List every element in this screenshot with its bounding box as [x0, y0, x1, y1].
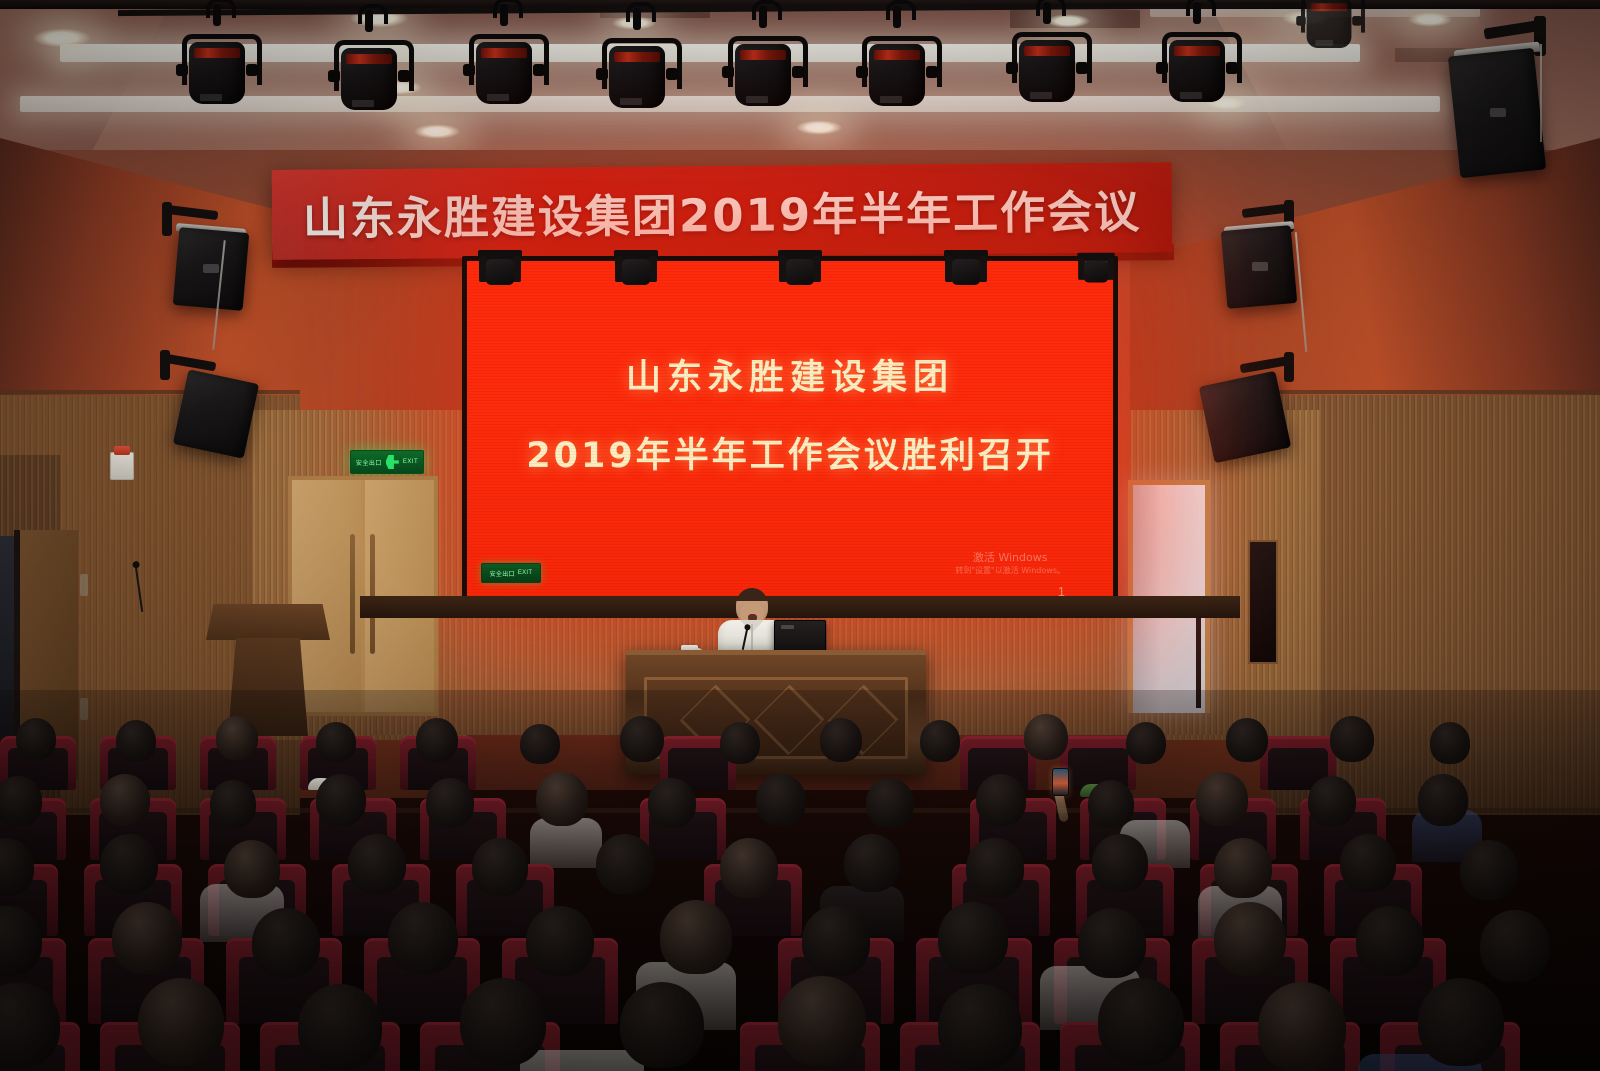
- downlight: [33, 28, 91, 48]
- banner-text: 山东永胜建设集团2019年半年工作会议: [303, 175, 1142, 247]
- par-can-light: [1158, 16, 1236, 108]
- attendee-head: [1024, 714, 1068, 760]
- emergency-exit-sign: 安全出口 EXIT: [350, 450, 424, 474]
- attendee-head: [1418, 978, 1504, 1066]
- attendee-head: [112, 902, 182, 974]
- attendee-head: [316, 722, 356, 762]
- attendee-head: [526, 906, 594, 976]
- attendee-head: [720, 838, 778, 898]
- attendee-head: [1092, 834, 1148, 892]
- attendee-head: [844, 834, 900, 892]
- wall-niche-right: [1248, 540, 1278, 664]
- downlight: [796, 120, 842, 135]
- moving-head-light: [944, 250, 988, 286]
- attendee-head: [1214, 902, 1286, 976]
- par-can-light: [858, 20, 936, 112]
- attendee-head: [620, 716, 664, 762]
- attendee-head: [224, 840, 280, 898]
- watermark-subtitle: 转到"设置"以激活 Windows。: [955, 566, 1065, 577]
- downlight: [414, 124, 460, 139]
- par-can-light: [1008, 16, 1086, 108]
- attendee-head: [16, 718, 56, 760]
- attendee-head: [660, 900, 732, 974]
- attendee-head: [520, 724, 560, 764]
- fire-alarm-station: [110, 452, 134, 480]
- screen-exit-en: EXIT: [518, 570, 533, 576]
- par-can-light: [1298, 0, 1360, 53]
- attendee-shirt: [520, 1050, 644, 1071]
- attendee-head: [1340, 834, 1396, 892]
- attendee-head: [1098, 978, 1184, 1066]
- attendee-head: [938, 984, 1022, 1070]
- running-man-icon: [386, 455, 399, 469]
- door-handle[interactable]: [370, 534, 375, 654]
- attendee-head: [756, 774, 806, 826]
- conference-banner: 山东永胜建设集团2019年半年工作会议: [272, 162, 1173, 260]
- attendee-head: [966, 838, 1024, 898]
- attendee-head: [778, 976, 866, 1066]
- moving-head-light: [778, 250, 822, 286]
- attendee-head: [1078, 908, 1146, 978]
- downlight: [1408, 12, 1452, 27]
- attendee-head: [298, 984, 382, 1070]
- led-screen: 山东永胜建设集团 2019年半年工作会议胜利召开 安全出口 EXIT 激活 Wi…: [467, 261, 1113, 605]
- attendee-head: [1196, 772, 1248, 826]
- led-screen-frame: 山东永胜建设集团 2019年半年工作会议胜利召开 安全出口 EXIT 激活 Wi…: [462, 256, 1118, 610]
- attendee-head: [388, 902, 458, 974]
- par-can-light: [465, 18, 543, 110]
- attendee-head: [620, 982, 704, 1068]
- par-can-light: [724, 20, 802, 112]
- attendee-head: [1088, 780, 1134, 828]
- attendee-head: [1330, 716, 1374, 762]
- smartphone[interactable]: [1052, 768, 1069, 796]
- moving-head-light: [1077, 253, 1114, 284]
- attendee-head: [1460, 840, 1518, 900]
- screen-headline: 山东永胜建设集团: [467, 349, 1113, 400]
- attendee-head: [138, 978, 224, 1066]
- wall-trim: [1270, 390, 1600, 394]
- par-can-light: [330, 24, 408, 116]
- attendee-head: [416, 718, 458, 762]
- attendee-head: [252, 908, 320, 978]
- attendee-head: [426, 778, 474, 828]
- attendee-head: [866, 778, 914, 828]
- audience: [0, 690, 1600, 1071]
- attendee-head: [1480, 910, 1550, 982]
- attendee-head: [1418, 774, 1468, 826]
- stage-riser: [360, 596, 1240, 618]
- watermark-title: 激活 Windows: [955, 551, 1065, 566]
- attendee-head: [1214, 838, 1272, 898]
- attendee-head: [216, 716, 258, 760]
- attendee-head: [648, 778, 696, 828]
- laptop-logo: [781, 625, 794, 629]
- moving-head-light: [614, 250, 658, 286]
- attendee-head: [802, 906, 870, 976]
- attendee-head: [472, 838, 528, 896]
- exit-sign-en: EXIT: [403, 459, 418, 465]
- screen-exit-sign: 安全出口 EXIT: [481, 563, 541, 583]
- attendee-head: [316, 774, 366, 826]
- attendee-head: [0, 776, 42, 826]
- attendee-head: [100, 774, 150, 826]
- attendee-head: [596, 834, 654, 894]
- laptop: [774, 620, 826, 654]
- attendee-head: [820, 718, 862, 762]
- attendee-head: [938, 902, 1008, 974]
- screen-exit-cn: 安全出口: [490, 569, 515, 578]
- par-can-light: [178, 18, 256, 110]
- exit-sign-cn: 安全出口: [356, 458, 382, 467]
- attendee-head: [920, 720, 960, 762]
- moving-head-light: [478, 250, 522, 286]
- speaker-cable: [1540, 44, 1542, 142]
- attendee-head: [976, 774, 1026, 826]
- screen-subheadline: 2019年半年工作会议胜利召开: [467, 427, 1113, 478]
- attendee-head: [1126, 722, 1166, 764]
- attendee-head: [1430, 722, 1470, 764]
- attendee-head: [348, 834, 406, 894]
- conference-hall-photo: 山东永胜建设集团2019年半年工作会议 山东永胜建设集团 2019年半年工作会议…: [0, 0, 1600, 1071]
- attendee-head: [100, 834, 158, 894]
- door-handle[interactable]: [350, 534, 355, 654]
- attendee-head: [536, 772, 588, 826]
- windows-activation-watermark: 激活 Windows 转到"设置"以激活 Windows。: [955, 551, 1065, 577]
- par-can-light: [598, 22, 676, 114]
- attendee-head: [1356, 906, 1424, 976]
- attendee-head: [1308, 776, 1356, 826]
- attendee-head: [1226, 718, 1268, 762]
- attendee-head: [116, 720, 156, 762]
- attendee-head: [210, 780, 256, 828]
- attendee-head: [720, 722, 760, 764]
- attendee-head: [1258, 982, 1346, 1071]
- attendee-head: [460, 978, 546, 1066]
